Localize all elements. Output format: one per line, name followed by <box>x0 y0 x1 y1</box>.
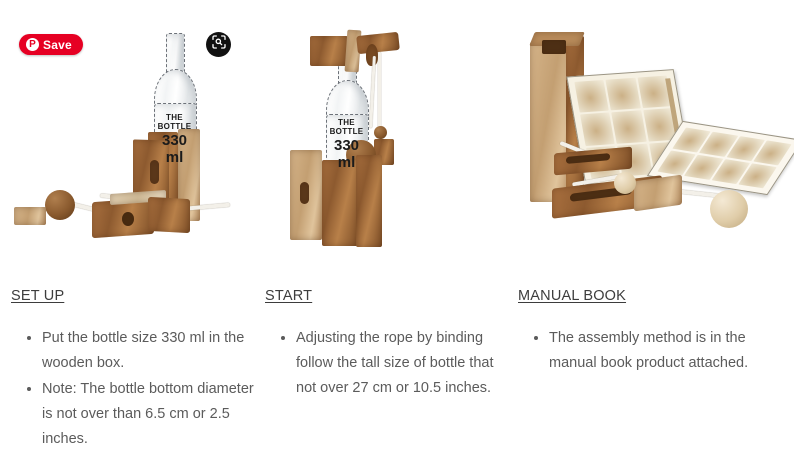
product-photo-start[interactable]: THE BOTTLE 330 ml <box>262 0 514 275</box>
list-item: Adjusting the rope by binding follow the… <box>296 326 511 401</box>
list-item: Put the bottle size 330 ml in the wooden… <box>42 326 261 376</box>
pinterest-save-button[interactable]: P Save <box>19 34 83 55</box>
wood-block-small <box>14 207 46 225</box>
wood-upright-box <box>530 42 570 202</box>
pinterest-save-label: Save <box>43 38 72 52</box>
column-list-manual-book: The assembly method is in the manual boo… <box>518 326 780 376</box>
wood-base-back <box>322 160 358 246</box>
wood-top-block <box>310 36 348 66</box>
manual-illustration <box>574 80 609 113</box>
visual-search-lens-icon <box>211 34 227 55</box>
column-list-setup: Put the bottle size 330 ml in the wooden… <box>11 326 261 452</box>
rope-hanging-2 <box>369 56 376 128</box>
instruction-column-start: START Adjusting the rope by binding foll… <box>265 275 511 402</box>
manual-illustration <box>580 113 615 146</box>
instruction-columns: SET UP Put the bottle size 330 ml in the… <box>0 275 794 447</box>
manual-illustration <box>606 78 641 111</box>
column-title-setup: SET UP <box>11 288 261 304</box>
column-list-start: Adjusting the rope by binding follow the… <box>265 326 511 401</box>
product-image-strip: THE BOTTLE 330 ml <box>0 0 794 275</box>
wood-bar-right <box>634 175 682 212</box>
wood-base-right <box>356 155 382 247</box>
wood-ball-pale-small <box>614 172 636 194</box>
column-title-start: START <box>265 288 511 304</box>
visual-search-button[interactable] <box>206 32 231 57</box>
pinterest-logo-icon: P <box>26 38 39 51</box>
wood-piece-center-right <box>148 197 190 233</box>
wood-box-slot <box>150 160 159 184</box>
list-item: Note: The bottle bottom diameter is not … <box>42 377 261 452</box>
wood-base-slot <box>300 182 309 204</box>
wood-upright-box-cavity <box>542 40 566 54</box>
column-title-manual-book: MANUAL BOOK <box>518 288 780 304</box>
manual-illustration <box>612 111 647 144</box>
product-photo-manual-book[interactable] <box>514 0 794 275</box>
instruction-column-manual-book: MANUAL BOOK The assembly method is in th… <box>518 275 780 377</box>
rope-hanging <box>378 52 381 136</box>
list-item: The assembly method is in the manual boo… <box>549 326 780 376</box>
wood-top-arm <box>356 32 400 54</box>
wood-bead-small <box>374 126 387 139</box>
wood-ball-pale-large <box>710 190 748 228</box>
wood-piece-hole <box>122 212 134 226</box>
instruction-column-setup: SET UP Put the bottle size 330 ml in the… <box>11 275 261 453</box>
wood-ball <box>45 190 75 220</box>
